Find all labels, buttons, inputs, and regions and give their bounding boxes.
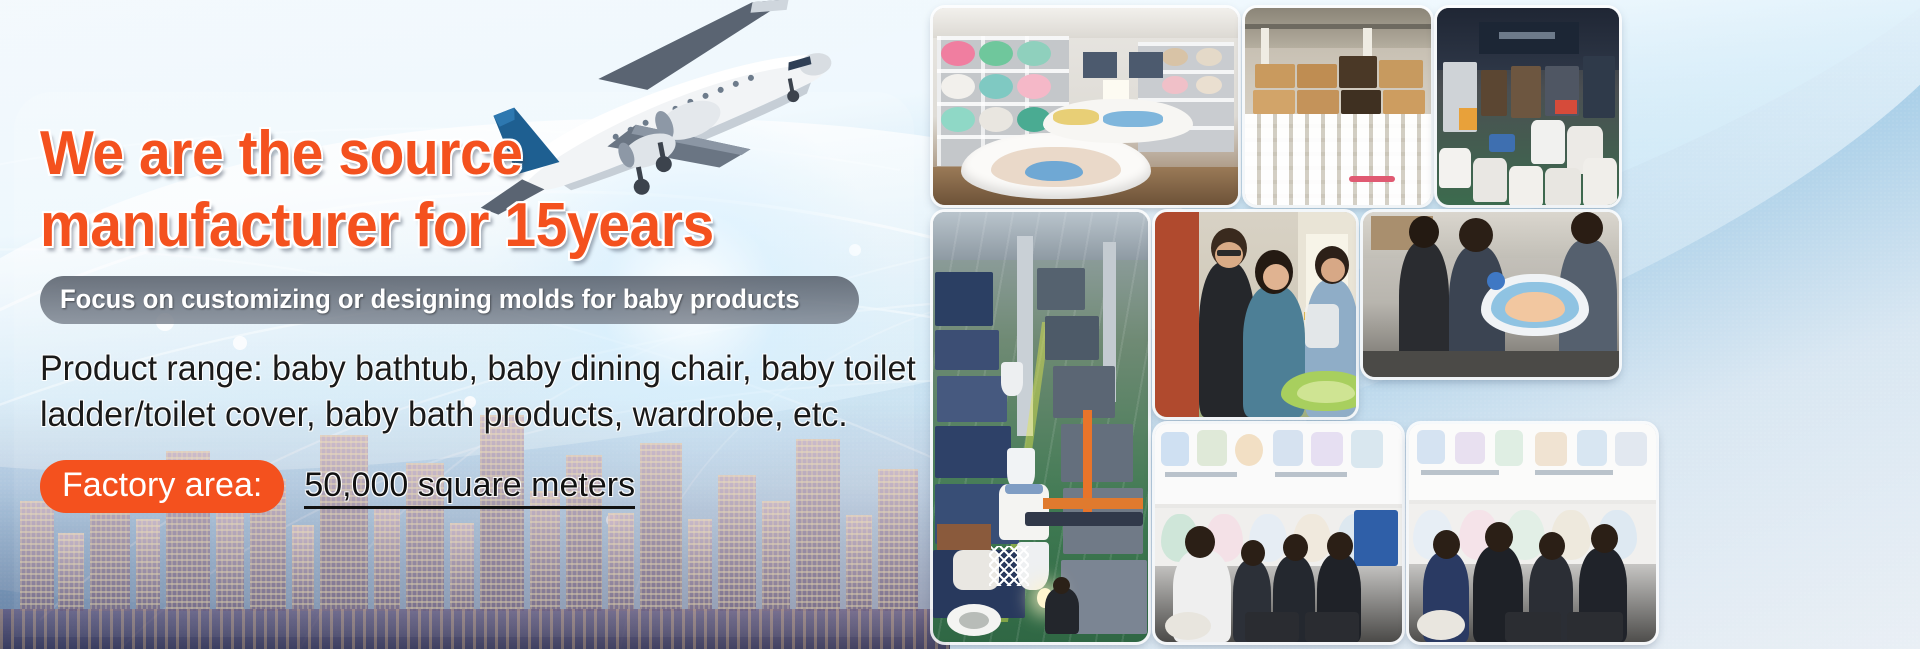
- promotional-banner: We are the source manufacturer for 15yea…: [0, 0, 1920, 649]
- photo-trade-show-booth-1[interactable]: [1155, 424, 1402, 642]
- headline-line-1: We are the source: [40, 118, 850, 190]
- factory-area-value: 50,000 square meters: [304, 465, 635, 509]
- factory-area-row: Factory area: 50,000 square meters: [40, 460, 920, 513]
- subtitle-text: Focus on customizing or designing molds …: [60, 283, 800, 315]
- photo-showroom-shelves[interactable]: [933, 8, 1238, 205]
- photo-warehouse-cartons[interactable]: [1245, 8, 1431, 205]
- photo-trade-show-booth-2[interactable]: [1409, 424, 1656, 642]
- photo-production-line-night[interactable]: [1437, 8, 1619, 205]
- product-range-line-2: ladder/toilet cover, baby bath products,…: [40, 392, 894, 438]
- photo-buyers-with-tub[interactable]: [1363, 212, 1619, 377]
- banner-text-block: We are the source manufacturer for 15yea…: [40, 118, 920, 513]
- photo-customers-inspecting[interactable]: [1155, 212, 1356, 417]
- factory-area-badge: Factory area:: [40, 460, 284, 513]
- headline-line-2: manufacturer for 15years: [40, 190, 850, 262]
- photo-factory-floor[interactable]: [933, 212, 1148, 642]
- product-range-line-1: Product range: baby bathtub, baby dining…: [40, 346, 894, 392]
- subtitle-pill: Focus on customizing or designing molds …: [40, 276, 859, 324]
- photo-collage: [925, 0, 1920, 649]
